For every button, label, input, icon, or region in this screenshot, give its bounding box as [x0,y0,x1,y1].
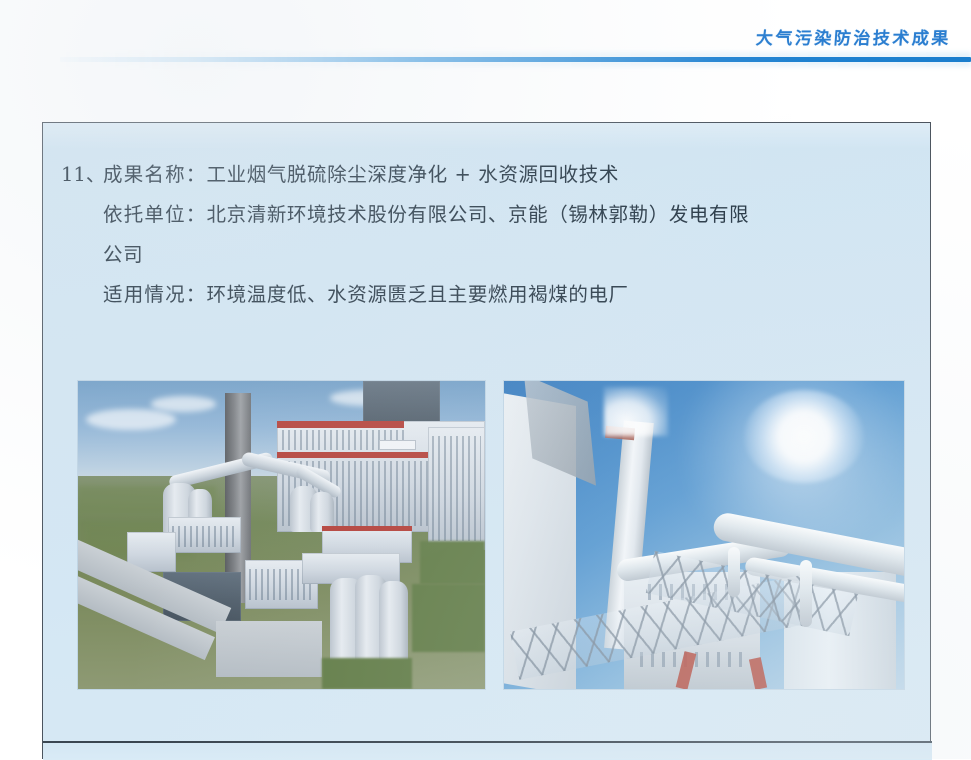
label-supporting-organization: 依托单位： [103,195,207,235]
support-column [728,547,740,596]
text-line-organization: 依托单位： 北京清新环境技术股份有限公司、京能（锡林郭勒）发电有限 [61,195,916,235]
item-number: 11、 [61,155,103,195]
page-header: 大气污染防治技术成果 [0,0,971,75]
content-panel: 11、 成果名称： 工业烟气脱硫除尘深度净化 + 水资源回收技术 依托单位： 北… [42,122,931,759]
power-plant-aerial-scene [78,381,485,689]
header-title: 大气污染防治技术成果 [755,24,952,49]
window-band [172,526,237,548]
label-achievement-name: 成果名称： [103,155,207,195]
greenery [420,541,485,584]
greenery [412,584,485,652]
coal-silo [379,581,407,670]
value-supporting-organization-continued: 公司 [103,235,143,275]
header-accent-rule [60,57,971,62]
window-band [432,436,481,541]
steam-plume [604,387,668,436]
value-applicable-conditions: 环境温度低、水资源匮乏且主要燃用褐煤的电厂 [207,275,629,315]
chimney-stack-scene [504,381,904,689]
text-line-application: 适用情况： 环境温度低、水资源匮乏且主要燃用褐煤的电厂 [61,275,916,315]
text-line-name: 11、 成果名称： 工业烟气脱硫除尘深度净化 + 水资源回收技术 [61,155,916,195]
cloud-icon [86,409,176,431]
red-roof [322,526,412,532]
building-sign [379,440,416,450]
achievement-text-block: 11、 成果名称： 工业烟气脱硫除尘深度净化 + 水资源回收技术 依托单位： 北… [61,155,916,315]
greenery [322,658,412,689]
label-applicable-conditions: 适用情况： [103,275,207,315]
panel-sheen [43,123,930,149]
photo-row [78,381,904,689]
value-supporting-organization: 北京清新环境技术股份有限公司、京能（锡林郭勒）发电有限 [207,195,750,235]
sun-icon [744,390,864,482]
cloud-icon [151,396,216,411]
text-line-organization-continued: 公司 [61,235,916,275]
support-column [800,560,812,628]
red-roof [277,421,403,428]
chimney-stack-photo [504,381,904,689]
power-plant-aerial-photo [78,381,485,689]
plant-yard [216,621,322,676]
panel-footer-strip [43,743,932,760]
value-achievement-name: 工业烟气脱硫除尘深度净化 + 水资源回收技术 [207,155,619,195]
